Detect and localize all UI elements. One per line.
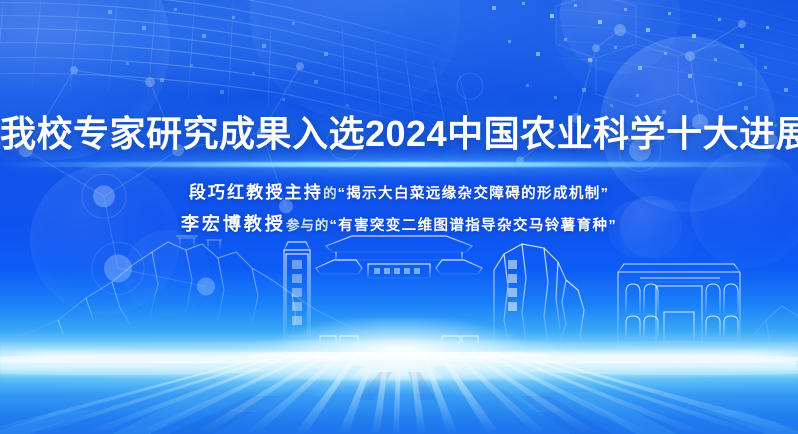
mountain-rock-right-icon	[494, 244, 584, 344]
paifang-archway-icon	[316, 236, 482, 344]
horizon-streak	[0, 352, 798, 361]
mountain-line-icon	[20, 236, 372, 336]
subtitle-container: 段巧红教授主持的“揭示大白菜远缘杂交障碍的形成机制” 李宏博教授参与的“有害突变…	[0, 180, 798, 240]
horizon-glow	[0, 340, 798, 380]
subtitle-1-person: 段巧红教授主持	[189, 183, 323, 202]
bubble-icon	[124, 230, 210, 316]
promo-banner: 我校专家研究成果入选2024中国农业科学十大进展 段巧红教授主持的“揭示大白菜远…	[0, 0, 798, 434]
page-title: 我校专家研究成果入选2024中国农业科学十大进展	[0, 112, 798, 156]
floor-blocks	[0, 352, 798, 434]
light-rays-icon	[0, 352, 798, 434]
subtitle-1-connector: 的	[323, 186, 338, 201]
bubble-icon	[250, 0, 460, 120]
mountain-far-right-icon	[748, 306, 798, 342]
bubble-blob-icon	[556, 0, 676, 94]
title-container: 我校专家研究成果入选2024中国农业科学十大进展	[0, 112, 798, 156]
subtitle-2-quote: “有害突变二维图谱指导杂交马铃薯育种”	[329, 218, 617, 234]
molecule-network-icon	[0, 0, 798, 312]
archway-plaque-inscription	[374, 268, 420, 274]
particle-dots-icon	[478, 0, 798, 190]
bubble-icon	[560, 0, 680, 74]
classical-building-icon	[612, 264, 746, 342]
stele-left-inscription	[292, 260, 302, 325]
stele-left-icon	[284, 242, 310, 342]
title-divider-glow	[0, 162, 798, 167]
skyline-lineart	[0, 224, 798, 354]
subtitle-line-1: 段巧红教授主持的“揭示大白菜远缘杂交障碍的形成机制”	[0, 180, 798, 207]
subtitle-2-person: 李宏博教授	[181, 214, 286, 234]
rock-inscription-wuyueduzun	[508, 260, 517, 311]
subtitle-line-2: 李宏博教授参与的“有害突变二维图谱指导杂交马铃薯育种”	[0, 210, 798, 240]
subtitle-2-connector: 参与的	[286, 218, 330, 233]
vanishing-point-glow	[269, 317, 529, 387]
subtitle-1-quote: “揭示大白菜远缘杂交障碍的形成机制”	[338, 186, 610, 202]
